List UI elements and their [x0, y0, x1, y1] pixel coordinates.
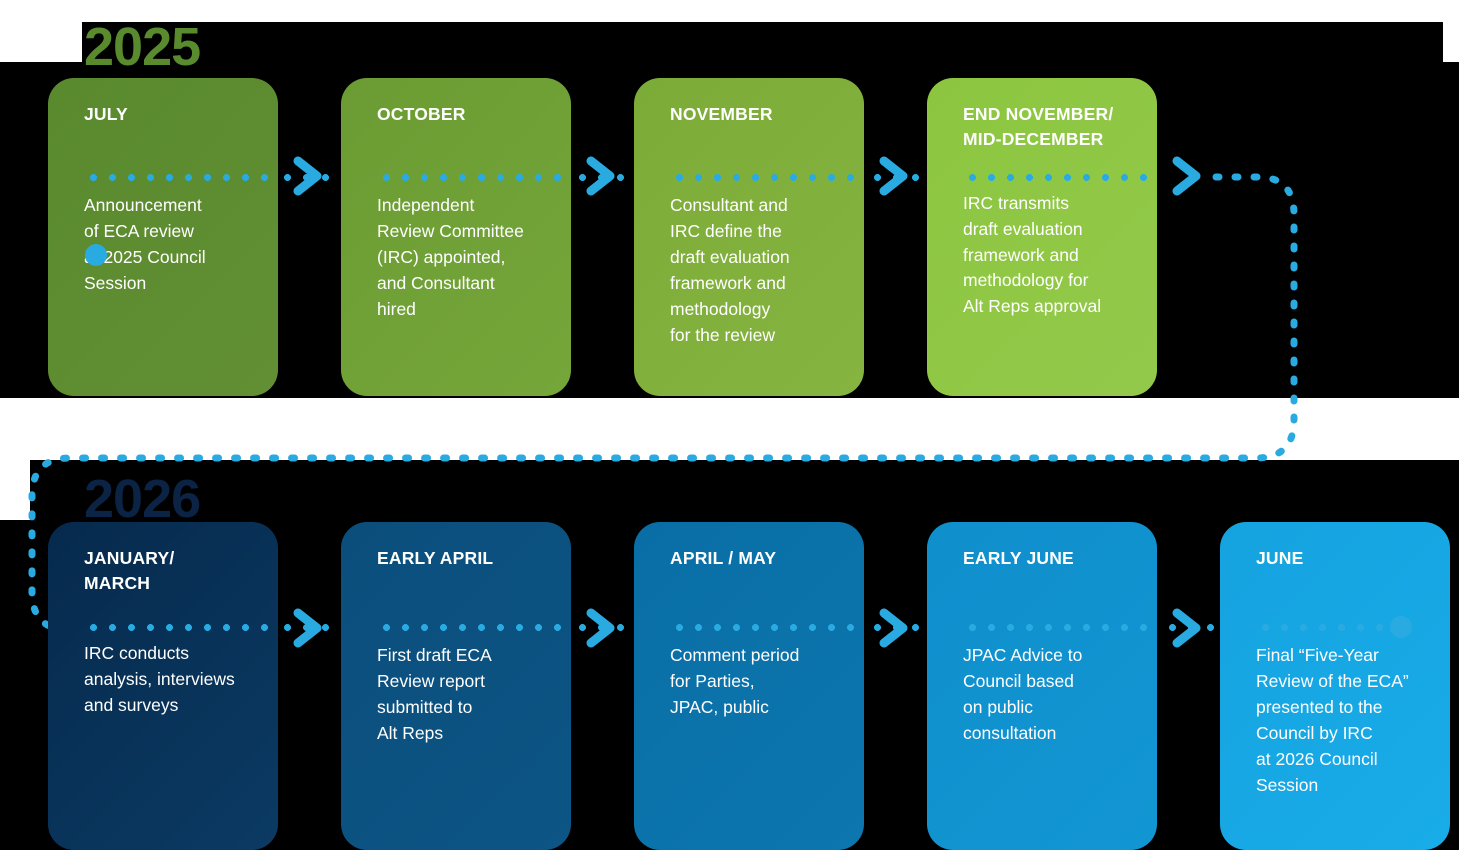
chevron-right-icon [583, 608, 617, 648]
timeline-diagram: 2025 2026 JULY Announcement of ECA revie… [0, 0, 1459, 850]
card-title: EARLY JUNE [963, 546, 1135, 571]
timeline-card-november[interactable]: NOVEMBER Consultant and IRC define the d… [634, 78, 864, 396]
timeline-row-2026: JANUARY/ MARCH IRC conducts analysis, in… [48, 522, 1450, 850]
card-connector [278, 522, 341, 850]
background-plate-top-left [0, 0, 82, 62]
background-plate-middle [0, 398, 1297, 460]
card-dotted-rule [377, 174, 571, 181]
card-title: JULY [84, 102, 256, 127]
card-body: Independent Review Committee (IRC) appoi… [377, 193, 549, 322]
year-heading-2026: 2026 [84, 472, 200, 526]
card-connector [571, 522, 634, 850]
card-connector [571, 78, 634, 396]
card-body: Comment period for Parties, JPAC, public [670, 643, 842, 721]
card-body: IRC conducts analysis, interviews and su… [84, 641, 256, 719]
card-dotted-rule [963, 624, 1157, 631]
card-title: JUNE [1256, 546, 1428, 571]
card-body: JPAC Advice to Council based on public c… [963, 643, 1135, 747]
chevron-right-icon [876, 608, 910, 648]
timeline-card-early-june[interactable]: EARLY JUNE JPAC Advice to Council based … [927, 522, 1157, 850]
chevron-right-icon [290, 608, 324, 648]
chevron-right-icon [583, 156, 617, 196]
background-plate-top-right [82, 0, 1459, 22]
timeline-card-april-may[interactable]: APRIL / MAY Comment period for Parties, … [634, 522, 864, 850]
card-dotted-rule [84, 624, 278, 631]
card-title: NOVEMBER [670, 102, 842, 127]
card-connector [864, 522, 927, 850]
card-connector [1157, 78, 1220, 396]
card-dotted-rule [1256, 624, 1406, 631]
card-connector [1157, 522, 1220, 850]
timeline-start-dot [85, 244, 107, 266]
chevron-right-icon [876, 156, 910, 196]
timeline-end-dot [1390, 616, 1412, 638]
card-body: Announcement of ECA review at 2025 Counc… [84, 193, 256, 297]
timeline-card-july[interactable]: JULY Announcement of ECA review at 2025 … [48, 78, 278, 396]
card-dotted-rule [963, 174, 1157, 181]
card-title: END NOVEMBER/ MID-DECEMBER [963, 102, 1135, 153]
card-title: APRIL / MAY [670, 546, 842, 571]
timeline-row-2025: JULY Announcement of ECA review at 2025 … [48, 78, 1220, 396]
timeline-card-early-april[interactable]: EARLY APRIL First draft ECA Review repor… [341, 522, 571, 850]
card-dotted-rule [670, 624, 864, 631]
card-connector [864, 78, 927, 396]
card-body: Final “Five-Year Review of the ECA” pres… [1256, 643, 1428, 798]
background-plate-bottom-left [0, 460, 30, 520]
card-connector [278, 78, 341, 396]
card-body: IRC transmits draft evaluation framework… [963, 191, 1135, 320]
chevron-right-icon [290, 156, 324, 196]
card-title: JANUARY/ MARCH [84, 546, 256, 597]
chevron-right-icon [1169, 156, 1203, 196]
timeline-card-june[interactable]: JUNE Final “Five-Year Review of the ECA”… [1220, 522, 1450, 850]
timeline-card-end-november-mid-december[interactable]: END NOVEMBER/ MID-DECEMBER IRC transmits… [927, 78, 1157, 396]
card-title: EARLY APRIL [377, 546, 549, 571]
card-body: Consultant and IRC define the draft eval… [670, 193, 842, 348]
timeline-card-january-march[interactable]: JANUARY/ MARCH IRC conducts analysis, in… [48, 522, 278, 850]
card-body: First draft ECA Review report submitted … [377, 643, 549, 747]
card-dotted-rule [377, 624, 571, 631]
background-plate-middle-right [1297, 398, 1459, 460]
year-heading-2025: 2025 [84, 20, 200, 74]
timeline-card-october[interactable]: OCTOBER Independent Review Committee (IR… [341, 78, 571, 396]
card-title: OCTOBER [377, 102, 549, 127]
card-dotted-rule [670, 174, 864, 181]
chevron-right-icon [1169, 608, 1203, 648]
background-plate-gap-right [1443, 22, 1459, 62]
card-dotted-rule [84, 174, 278, 181]
